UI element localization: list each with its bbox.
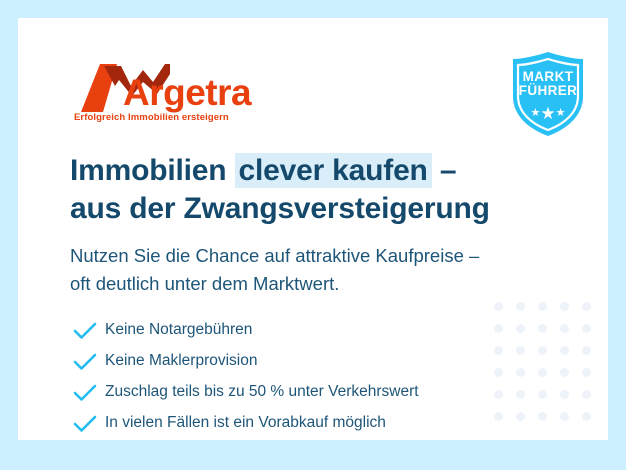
decorative-dot <box>582 302 591 311</box>
headline-highlight: clever kaufen <box>235 153 432 188</box>
list-item: Zuschlag teils bis zu 50 % unter Verkehr… <box>73 377 543 408</box>
decorative-dot <box>494 302 503 311</box>
benefits-list: Keine Notargebühren Keine Maklerprovisio… <box>73 315 543 439</box>
list-item-label: In vielen Fällen ist ein Vorabkauf mögli… <box>105 414 386 433</box>
decorative-dot <box>560 346 569 355</box>
logo-wordmark: Argetra <box>123 74 251 111</box>
decorative-dot <box>582 346 591 355</box>
list-item-label: Zuschlag teils bis zu 50 % unter Verkehr… <box>105 383 419 402</box>
list-item-label: Keine Notargebühren <box>105 321 252 340</box>
headline-line1-after: – <box>432 154 457 187</box>
page-subtitle: Nutzen Sie die Chance auf attraktive Kau… <box>70 242 570 298</box>
subtitle-line2: oft deutlich unter dem Marktwert. <box>70 273 339 294</box>
badge-line-2: FÜHRER <box>507 84 589 98</box>
decorative-dot <box>582 412 591 421</box>
check-icon <box>73 415 97 433</box>
list-item: Keine Notargebühren <box>73 315 543 346</box>
subtitle-line1: Nutzen Sie die Chance auf attraktive Kau… <box>70 245 479 266</box>
badge-text: MARKT FÜHRER <box>507 70 589 98</box>
page-title: Immobilien clever kaufen – aus der Zwang… <box>70 152 570 229</box>
decorative-dot <box>582 390 591 399</box>
decorative-dot <box>560 368 569 377</box>
decorative-dot <box>560 302 569 311</box>
headline-line2: aus der Zwangsversteigerung <box>70 192 490 225</box>
badge-line-1: MARKT <box>507 70 589 84</box>
decorative-dot <box>560 412 569 421</box>
check-icon <box>73 353 97 371</box>
promo-banner-frame: Argetra Erfolgreich Immobilien ersteiger… <box>0 0 626 470</box>
decorative-dot <box>582 368 591 377</box>
logo-tagline: Erfolgreich Immobilien ersteigern <box>74 112 229 123</box>
star-icon: ★ <box>540 104 555 123</box>
star-icon: ★ <box>556 107 566 119</box>
check-icon <box>73 384 97 402</box>
decorative-dot <box>516 302 525 311</box>
argetra-logo: Argetra Erfolgreich Immobilien ersteiger… <box>73 60 273 130</box>
decorative-dot <box>560 324 569 333</box>
decorative-dot <box>538 302 547 311</box>
headline-line1-before: Immobilien <box>70 154 235 187</box>
promo-card: Argetra Erfolgreich Immobilien ersteiger… <box>18 18 608 440</box>
list-item: In vielen Fällen ist ein Vorabkauf mögli… <box>73 408 543 439</box>
market-leader-badge: MARKT FÜHRER ★★★ <box>507 50 589 138</box>
list-item: Keine Maklerprovision <box>73 346 543 377</box>
list-item-label: Keine Maklerprovision <box>105 352 258 371</box>
decorative-dot <box>582 324 591 333</box>
badge-stars: ★★★ <box>507 105 589 122</box>
check-icon <box>73 322 97 340</box>
decorative-dot <box>560 390 569 399</box>
star-icon: ★ <box>531 107 541 119</box>
